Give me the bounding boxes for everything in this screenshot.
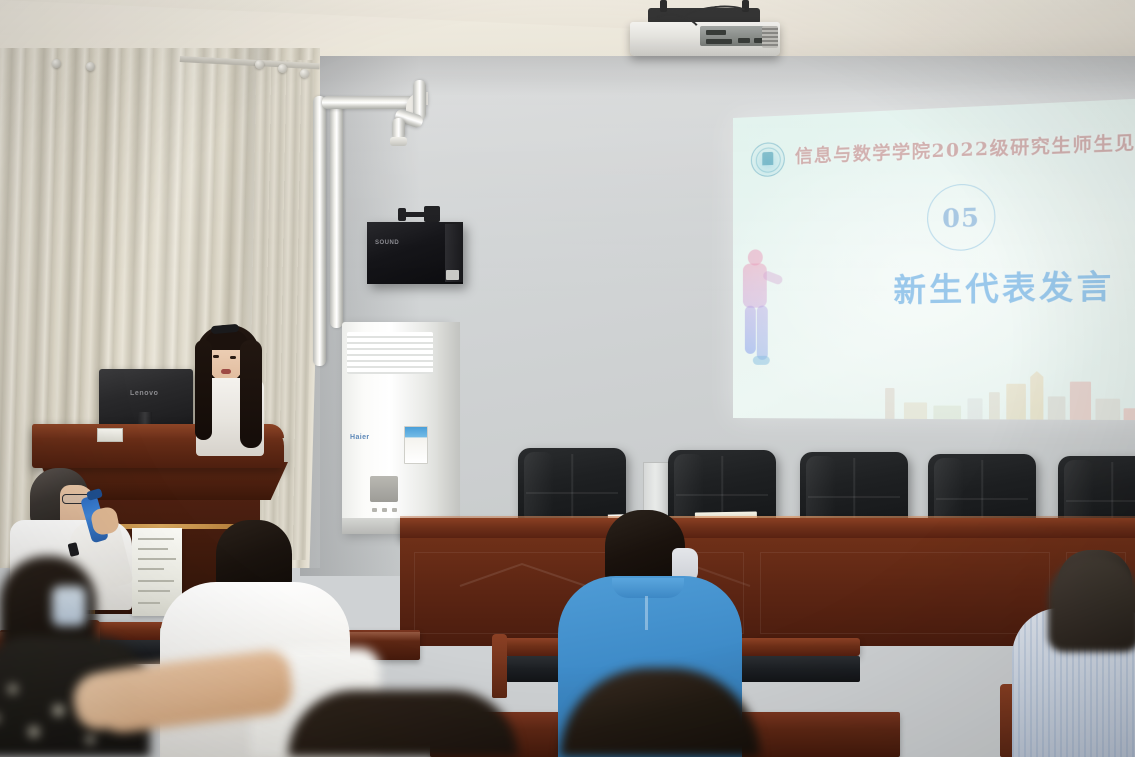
skyline-building (1070, 382, 1091, 420)
slide-section-number: 05 (927, 183, 995, 252)
lecture-hall-scene: 信息与数学学院2022级研究生师生见面会 05 新生代表发言 SOUND Hai… (0, 0, 1135, 757)
polo-collar (612, 578, 684, 598)
curtain-ring (300, 69, 309, 78)
floor-air-conditioner[interactable]: Haier (342, 322, 448, 534)
presenter-hair-strand-right (240, 340, 262, 448)
slide-figure-silhouette (737, 249, 783, 400)
skyline-building (885, 388, 894, 419)
chair-highlight (524, 452, 554, 524)
curtain-ring (278, 64, 287, 73)
skyline-building (1095, 399, 1120, 420)
ac-energy-label (404, 426, 428, 464)
skyline-building (967, 398, 982, 419)
ac-side-panel (438, 322, 460, 534)
skyline-building (1030, 371, 1043, 420)
projector-vent (762, 26, 778, 48)
polo-placket (645, 596, 648, 630)
logo-inner-ring (755, 147, 780, 173)
notice-text-line (138, 558, 176, 560)
speaker-front-grille (367, 222, 445, 284)
podium-nameplate (97, 428, 123, 442)
wall-pipe-horizontal (322, 96, 416, 109)
notice-text-line (138, 580, 174, 582)
speaker-spec-sticker (446, 270, 459, 280)
skyline-building (1124, 408, 1135, 420)
monitor-brand-logo: Lenovo (130, 390, 159, 397)
wall-pipe-vertical-a (313, 96, 326, 366)
presenter-mouth (221, 369, 231, 374)
foreground-head-right (1048, 556, 1135, 652)
speaker-brand-label: SOUND (375, 240, 399, 246)
presenter-eye (213, 355, 219, 358)
figure-foot (753, 356, 770, 365)
wall-mounted-speaker: SOUND (367, 222, 463, 284)
notice-text-line (138, 548, 168, 550)
slide-header-title: 信息与数学学院2022级研究生师生见面会 (795, 127, 1135, 169)
projector-port (738, 38, 750, 43)
notice-text-line (138, 568, 164, 570)
skyline-building (989, 392, 1000, 419)
wall-pipe-cap (390, 137, 407, 146)
presenter-hair-strand-left (195, 340, 212, 440)
slide-section-title: 新生代表发言 (893, 260, 1114, 311)
ac-brand-logo: Haier (350, 434, 370, 441)
curtain-ring (255, 60, 264, 69)
figure-torso (743, 263, 767, 308)
head-table-top (400, 518, 1135, 540)
face-mask (52, 586, 86, 626)
ac-button[interactable] (372, 508, 377, 512)
notice-text-line (138, 602, 160, 604)
bracket-plate (424, 206, 440, 222)
projection-screen: 信息与数学学院2022级研究生师生见面会 05 新生代表发言 (733, 98, 1135, 420)
curtain-ring (52, 59, 61, 68)
bracket-pivot (398, 208, 406, 221)
ac-air-louvers (347, 332, 433, 374)
projector-port (706, 39, 732, 44)
notice-text-line (138, 538, 174, 540)
skyline-building (1006, 384, 1026, 420)
ac-button[interactable] (382, 508, 387, 512)
figure-leg (745, 306, 756, 354)
ac-button[interactable] (392, 508, 397, 512)
bench-armrest (492, 634, 507, 698)
university-seal-logo (751, 142, 785, 178)
presenter-eye (230, 356, 236, 359)
figure-leg (757, 305, 768, 359)
notice-text-line (138, 590, 170, 592)
ac-control-display[interactable] (370, 476, 398, 502)
projector-mount-arm (660, 0, 667, 12)
foreground-head-left-low (288, 690, 518, 757)
skyline-building (933, 406, 961, 420)
skyline-building (904, 402, 927, 419)
curtain-ring (86, 62, 95, 71)
slide-skyline-graphic (733, 354, 1135, 421)
wall-pipe-vertical-b (330, 100, 343, 328)
skyline-building (1048, 396, 1066, 419)
